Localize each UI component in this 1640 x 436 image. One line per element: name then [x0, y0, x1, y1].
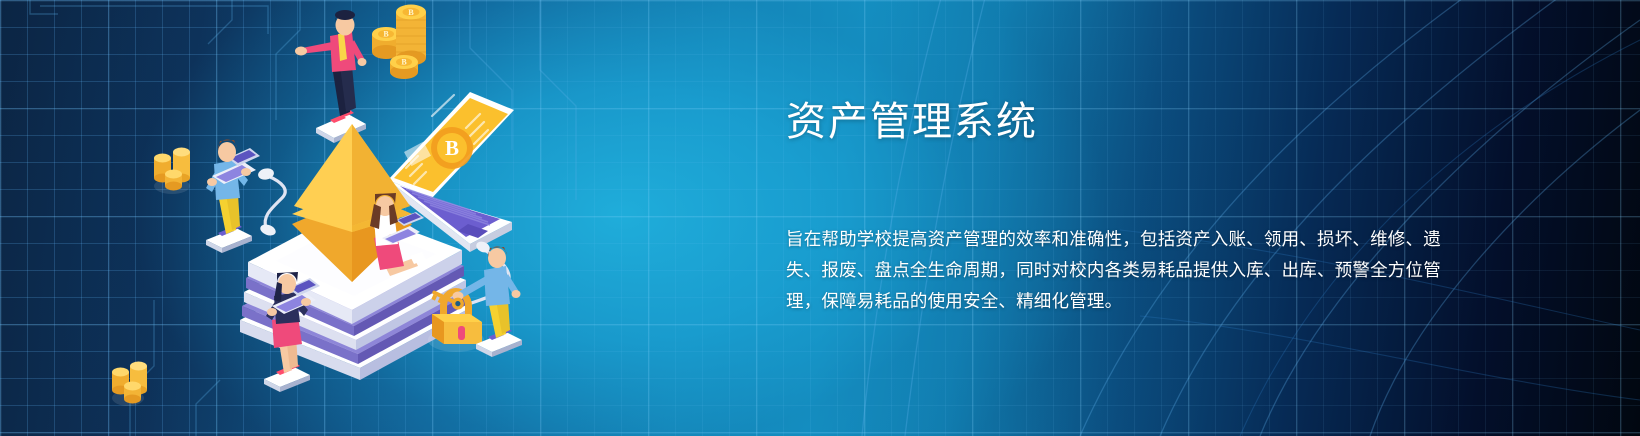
coin-stack-left-icon — [154, 148, 190, 195]
person-laptop-blue-icon — [206, 139, 260, 253]
hero-banner: B B B — [0, 0, 1640, 436]
page-description: 旨在帮助学校提高资产管理的效率和准确性，包括资产入账、领用、损坏、维修、遗失、报… — [786, 224, 1462, 317]
svg-text:B: B — [383, 30, 389, 39]
coin-stack-bottom-left-icon — [112, 362, 147, 407]
illustration-blockchain-assets: B B B — [0, 0, 600, 436]
page-title: 资产管理系统 — [786, 96, 1486, 148]
svg-text:B: B — [408, 7, 414, 17]
svg-text:B: B — [445, 136, 459, 160]
coin-stack-top-icon: B B B — [372, 5, 426, 80]
person-skater-icon — [295, 10, 367, 143]
hero-copy: 资产管理系统 旨在帮助学校提高资产管理的效率和准确性，包括资产入账、领用、损坏、… — [786, 96, 1486, 317]
cable-end-icon — [259, 223, 277, 238]
svg-text:B: B — [401, 58, 407, 67]
